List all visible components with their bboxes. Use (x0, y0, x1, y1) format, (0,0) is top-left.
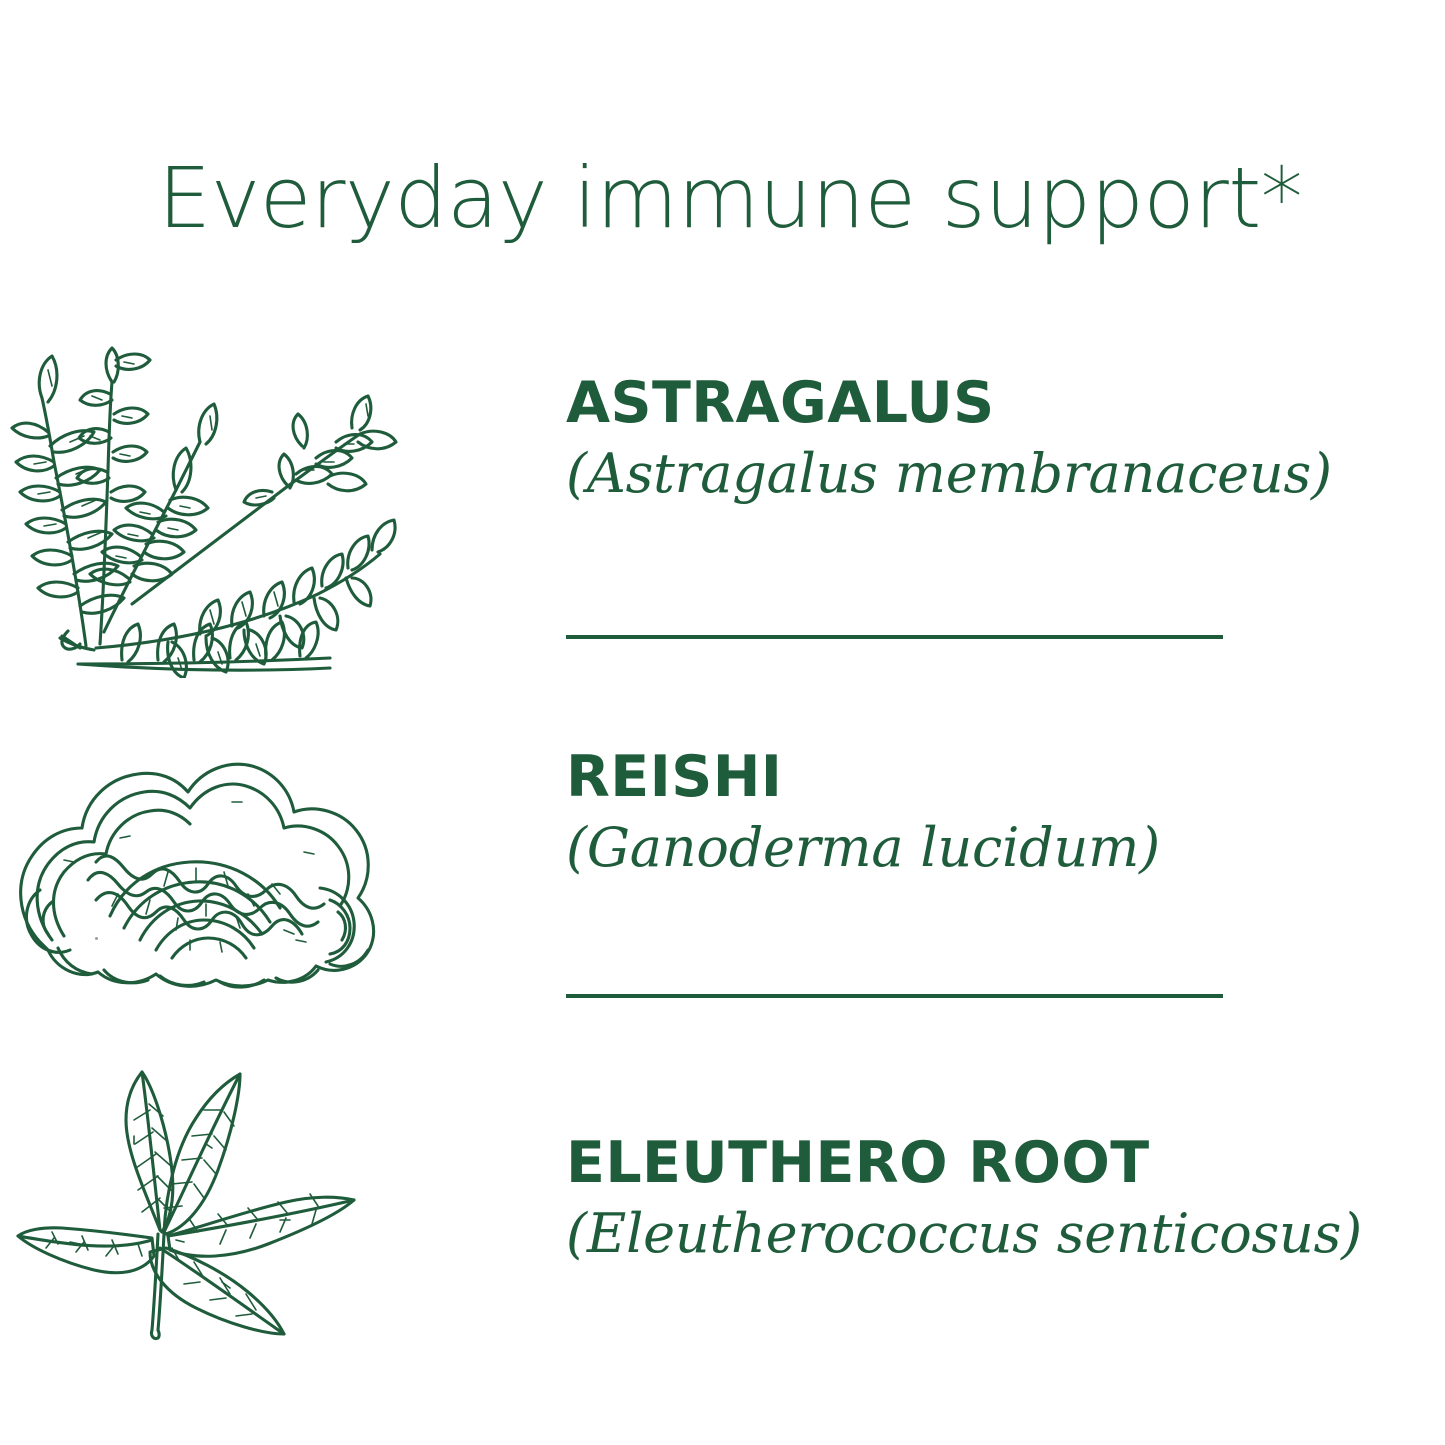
astragalus-plant-icon (0, 286, 420, 678)
ingredient-common-name: REISHI (566, 746, 1366, 810)
ingredient-row-astragalus: ASTRAGALUS (Astragalus membranaceus) (0, 286, 1445, 678)
divider-after-astragalus (566, 635, 1223, 639)
ingredient-common-name: ELEUTHERO ROOT (566, 1132, 1366, 1196)
ingredient-row-reishi: REISHI (Ganoderma lucidum) (0, 690, 1445, 1020)
astragalus-text-block: ASTRAGALUS (Astragalus membranaceus) (566, 372, 1366, 507)
ingredient-latin-name: (Ganoderma lucidum) (566, 816, 1366, 881)
eleuthero-text-block: ELEUTHERO ROOT (Eleutherococcus senticos… (566, 1132, 1366, 1267)
eleuthero-leaf-icon (0, 1024, 420, 1364)
divider-after-reishi (566, 994, 1223, 998)
ingredient-latin-name: (Astragalus membranaceus) (566, 442, 1366, 507)
reishi-mushroom-icon (0, 704, 420, 994)
ingredient-latin-name: (Eleutherococcus senticosus) (566, 1202, 1366, 1267)
ingredient-common-name: ASTRAGALUS (566, 372, 1366, 436)
page-title: Everyday immune support* (158, 154, 1338, 242)
ingredient-row-eleuthero: ELEUTHERO ROOT (Eleutherococcus senticos… (0, 1024, 1445, 1364)
stray-speck (95, 937, 98, 940)
reishi-text-block: REISHI (Ganoderma lucidum) (566, 746, 1366, 881)
ingredient-panel: Everyday immune support* (0, 0, 1445, 1445)
